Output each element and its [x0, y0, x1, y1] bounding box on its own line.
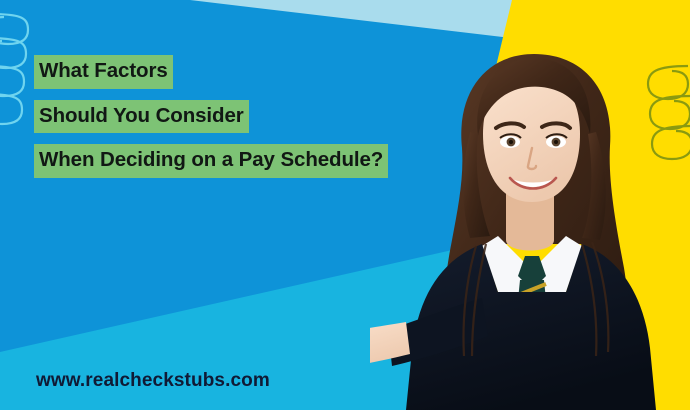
headline-line: What Factors: [34, 55, 454, 89]
site-url-text: www.realcheckstubs.com: [36, 370, 270, 392]
headline-line: When Deciding on a Pay Schedule?: [34, 144, 454, 178]
blog-header-banner: What Factors Should You Consider When De…: [0, 0, 690, 410]
headline-line: Should You Consider: [34, 100, 454, 134]
headline-line-1: What Factors: [34, 55, 173, 89]
headline-block: What Factors Should You Consider When De…: [34, 55, 454, 189]
headline-line-2: Should You Consider: [34, 100, 249, 134]
headline-line-3: When Deciding on a Pay Schedule?: [34, 144, 388, 178]
